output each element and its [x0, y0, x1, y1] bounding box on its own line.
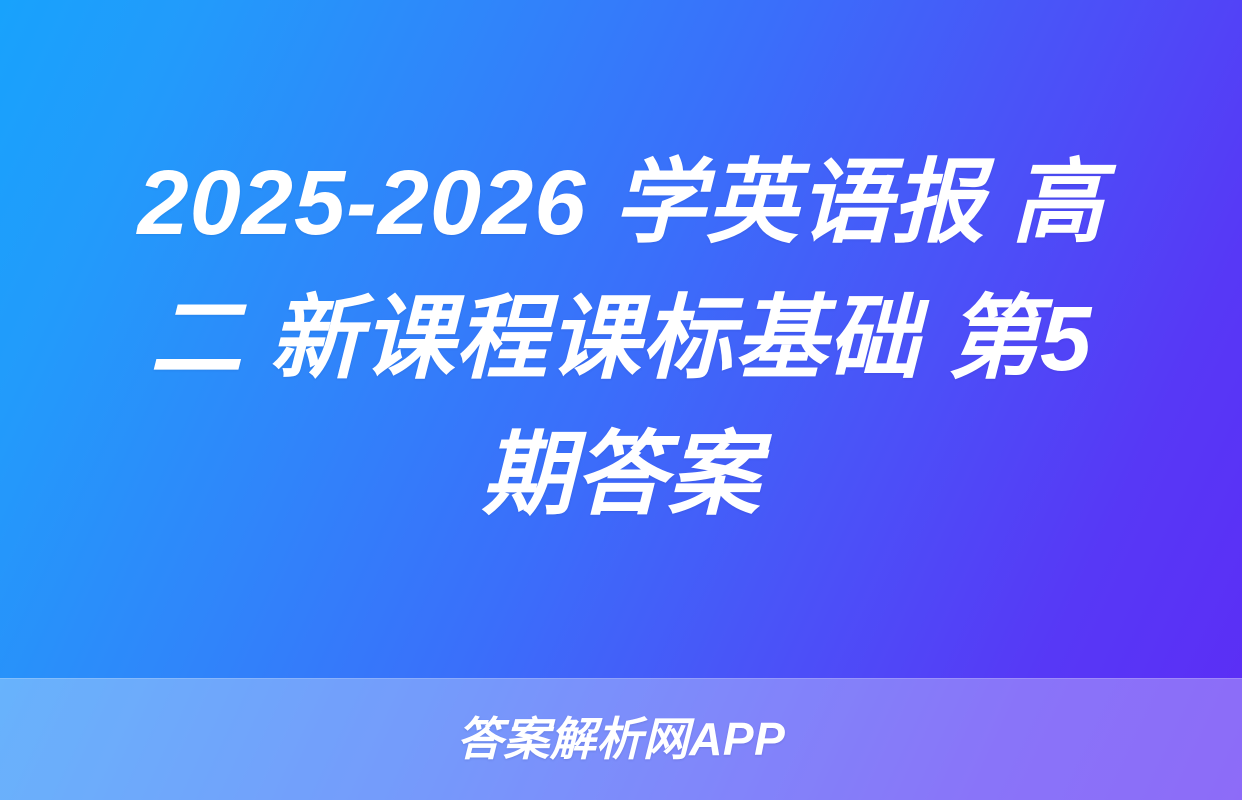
answer-banner: 2025-2026 学英语报 高 二 新课程课标基础 第5 期答案 答案解析网A… [0, 0, 1242, 800]
page-title-line-2: 二 新课程课标基础 第5 [28, 271, 1214, 407]
page-title-line-3: 期答案 [28, 407, 1214, 543]
page-title-line-1: 2025-2026 学英语报 高 [28, 135, 1214, 271]
title-region: 2025-2026 学英语报 高 二 新课程课标基础 第5 期答案 [0, 0, 1242, 678]
footer-band: 答案解析网APP [0, 678, 1242, 800]
app-brand-label: 答案解析网APP [457, 714, 786, 764]
